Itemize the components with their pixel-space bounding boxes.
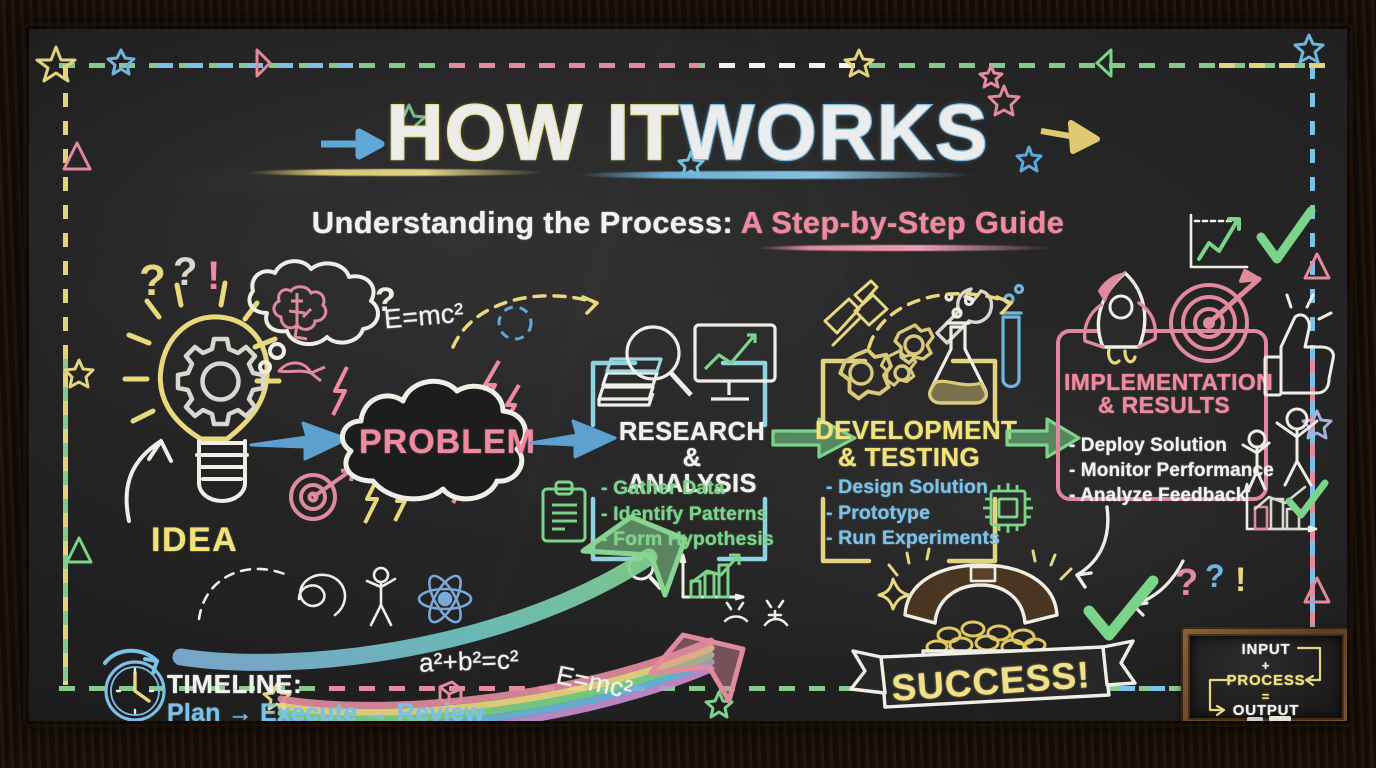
triangle-icon (1305, 578, 1329, 602)
title-part-1: HOW IT (387, 87, 681, 178)
lightning-bolt-icon (483, 361, 499, 409)
title-underline-yellow (247, 169, 545, 176)
mini-input-label: INPUT (1190, 641, 1342, 658)
flask-icon (930, 294, 987, 403)
success-label: SUCCESS! (880, 653, 1102, 710)
arrow-problem-to-research (529, 411, 619, 467)
question-marks-group: ? ? ! (137, 247, 267, 327)
bar-chart-icon (681, 555, 743, 599)
star-icon (65, 360, 93, 387)
stage-title-implementation-line1: IMPLEMENTATION (1064, 371, 1264, 394)
lightbulb-base (197, 441, 247, 501)
thumbs-up-icon (1265, 295, 1333, 395)
bird-icon (279, 363, 325, 381)
hammer-icon (833, 295, 887, 345)
triangle-icon (1305, 254, 1329, 278)
lightning-bolt-icon (365, 475, 379, 523)
star-icon (108, 50, 134, 74)
brain-icon (274, 287, 326, 339)
research-icons (591, 311, 781, 411)
mini-chalkboard-surface: INPUT + PROCESS = OUTPUT (1190, 636, 1342, 718)
chalkboard: HOW IT WORKS Understanding the Process: … (29, 29, 1347, 721)
border-dash-green-left (63, 359, 68, 689)
curved-arrow-to-success (1061, 503, 1191, 633)
circle-icon (499, 307, 531, 339)
magnifier-icon (627, 327, 691, 395)
stick-figure-icon (367, 568, 395, 625)
stage-label-problem: PROBLEM (359, 423, 536, 462)
bullet-item: - Form Hypothesis (601, 527, 774, 553)
dashed-arc-to-research (447, 279, 627, 359)
bottom-left-doodles (195, 553, 495, 643)
question-mark-icon: ? (1175, 562, 1198, 604)
subtitle-underline (755, 245, 1055, 251)
bullet-item: - Identify Patterns (601, 502, 774, 528)
bullet-item: - Analyze Feedback (1069, 483, 1274, 508)
question-mark-icon: ? (139, 256, 166, 305)
formula-emc2-top: E=mc² (383, 298, 465, 336)
gear-icon (178, 339, 263, 424)
monitor-chart-icon (695, 325, 775, 399)
exclamation-mark-icon: ! (207, 254, 220, 298)
magnifier-icon (629, 555, 653, 579)
curved-arrow-icon (127, 441, 171, 521)
wooden-frame: HOW IT WORKS Understanding the Process: … (0, 0, 1376, 768)
lightning-bolt-icon (453, 465, 465, 503)
lightbulb-icon (160, 317, 267, 439)
stage-title-development: DEVELOPMENT & TESTING (815, 417, 1003, 470)
screwdriver-icon (825, 281, 877, 333)
title-underline-blue (577, 171, 977, 179)
border-dash-blue (157, 63, 357, 68)
question-mark-icon: ? (1205, 558, 1225, 594)
research-sub-icons (625, 549, 755, 609)
mini-plus-sign: + (1190, 658, 1342, 673)
formula-pythagoras: a²+b²=c² (418, 644, 519, 678)
success-check (1081, 577, 1161, 647)
lightning-bolt-icon (505, 385, 519, 423)
subtitle-main: Understanding the Process: (312, 205, 733, 240)
border-dash-yellow-top (1219, 63, 1329, 68)
formula-emc2-bottom: E=mc² (554, 659, 636, 705)
star-icon (706, 692, 732, 717)
mini-output-label: OUTPUT (1190, 702, 1342, 719)
stage-title-research-line1: RESEARCH & (607, 419, 777, 471)
check-mark-icon (1289, 483, 1325, 515)
arrow-right-icon (531, 421, 615, 457)
stage-title-development-line2: & TESTING (815, 444, 1003, 471)
star-icon (1303, 411, 1331, 438)
subtitle-accent: A Step-by-Step Guide (741, 205, 1064, 240)
lightbulb-rays (125, 283, 279, 421)
stage-label-idea: IDEA (151, 521, 238, 560)
stage-bullets-implementation: - Deploy Solution - Monitor Performance … (1069, 433, 1274, 508)
lightning-bolt-icon (333, 367, 347, 415)
stage-title-implementation: IMPLEMENTATION & RESULTS (1064, 371, 1264, 418)
mini-process-label: PROCESS (1190, 672, 1342, 689)
arrow-right-icon (251, 423, 347, 459)
arrow-idea-to-problem (247, 413, 357, 469)
lightning-bolt-icon (395, 479, 409, 521)
stage-bullets-development: - Design Solution - Prototype - Run Expe… (826, 475, 1000, 552)
clipboard-icon (537, 479, 593, 545)
timeline-label: TIMELINE: (167, 669, 302, 700)
atom-icon (419, 571, 471, 626)
border-dash-pink (449, 63, 699, 68)
bullet-item: - Monitor Performance (1069, 458, 1274, 483)
check-mark-icon (1089, 581, 1153, 635)
bullet-item: - Prototype (826, 501, 1000, 527)
mini-chalkboard: INPUT + PROCESS = OUTPUT (1181, 627, 1347, 721)
exclamation-mark-icon: ! (1235, 561, 1246, 599)
development-icons (819, 279, 1019, 399)
stage-title-development-line1: DEVELOPMENT (815, 417, 1003, 444)
bullet-item: - Design Solution (826, 475, 1000, 501)
wrench-icon (937, 289, 992, 343)
bullet-item: - Run Experiments (826, 526, 1000, 552)
question-marks-right: ? ? ! (1173, 553, 1263, 613)
page-title: HOW IT WORKS (29, 87, 1347, 178)
green-curve-arrow (179, 499, 879, 679)
stage-title-implementation-line2: & RESULTS (1064, 394, 1264, 417)
question-mark-icon: ? (173, 250, 197, 294)
idea-illustration (99, 239, 399, 539)
star-icon (1295, 35, 1323, 62)
books-icon (599, 359, 661, 405)
sparkle-icon (879, 549, 1071, 609)
dashed-curve-icon (199, 569, 287, 619)
line-chart-icon (705, 337, 753, 369)
star-icon (980, 66, 1002, 87)
test-tube-icon (1001, 286, 1023, 387)
clock-icon (95, 645, 175, 721)
bullet-item: - Gather Data (601, 476, 774, 502)
triangle-icon (67, 538, 91, 562)
page-subtitle: Understanding the Process: A Step-by-Ste… (29, 205, 1347, 241)
gears-icon (840, 325, 933, 398)
border-dash-white (719, 63, 869, 68)
emoji-faces-icon (719, 589, 799, 639)
spiral-icon (299, 575, 345, 615)
stage-bullets-research: - Gather Data - Identify Patterns - Form… (601, 476, 774, 553)
title-part-2: WORKS (680, 87, 989, 178)
target-icon (291, 469, 353, 519)
timeline-steps: Plan → Execute → Review (167, 699, 484, 721)
bullet-item: - Deploy Solution (1069, 433, 1274, 458)
coin-icon (927, 622, 1045, 654)
dashed-arc-to-implementation (865, 273, 1035, 353)
